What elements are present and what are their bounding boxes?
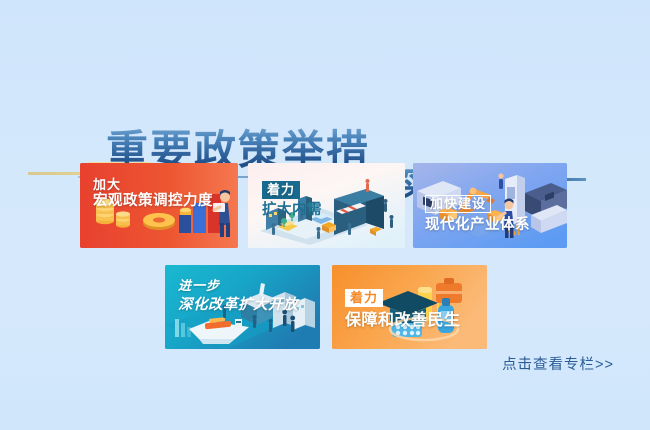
card-caption: 着力 扩大内需 <box>262 181 322 220</box>
title-block: 重要政策举措 及实施效果 <box>0 55 650 150</box>
card-chanye[interactable]: 加快建设 现代化产业体系 <box>413 163 567 248</box>
card-caption: 进一步 深化改革扩大开放 <box>178 278 298 315</box>
card-line1: 着力 <box>262 181 322 199</box>
card-gaige[interactable]: 进一步 深化改革扩大开放 <box>165 265 320 349</box>
card-kuodaneixu[interactable]: 着力 扩大内需 <box>248 163 405 248</box>
view-column-link[interactable]: 点击查看专栏>> <box>502 353 614 374</box>
card-line2: 保障和改善民生 <box>345 311 461 331</box>
card-line1: 进一步 <box>178 278 298 294</box>
card-jiada[interactable]: 加大 宏观政策调控力度 <box>80 163 238 248</box>
card-caption: 加大 宏观政策调控力度 <box>93 177 213 211</box>
card-line1: 加大 <box>93 177 213 193</box>
card-line1: 加快建设 <box>425 195 491 213</box>
card-caption: 着力 保障和改善民生 <box>345 289 461 330</box>
card-line2: 扩大内需 <box>262 202 322 220</box>
card-line1: 着力 <box>345 289 461 307</box>
card-line2: 现代化产业体系 <box>425 217 530 235</box>
banner-canvas: 重要政策举措 及实施效果 <box>0 0 650 430</box>
card-minsheng[interactable]: 着力 保障和改善民生 <box>332 265 487 349</box>
card-line2: 宏观政策调控力度 <box>93 193 213 211</box>
card-caption: 加快建设 现代化产业体系 <box>425 194 530 235</box>
card-line2: 深化改革扩大开放 <box>178 297 298 315</box>
